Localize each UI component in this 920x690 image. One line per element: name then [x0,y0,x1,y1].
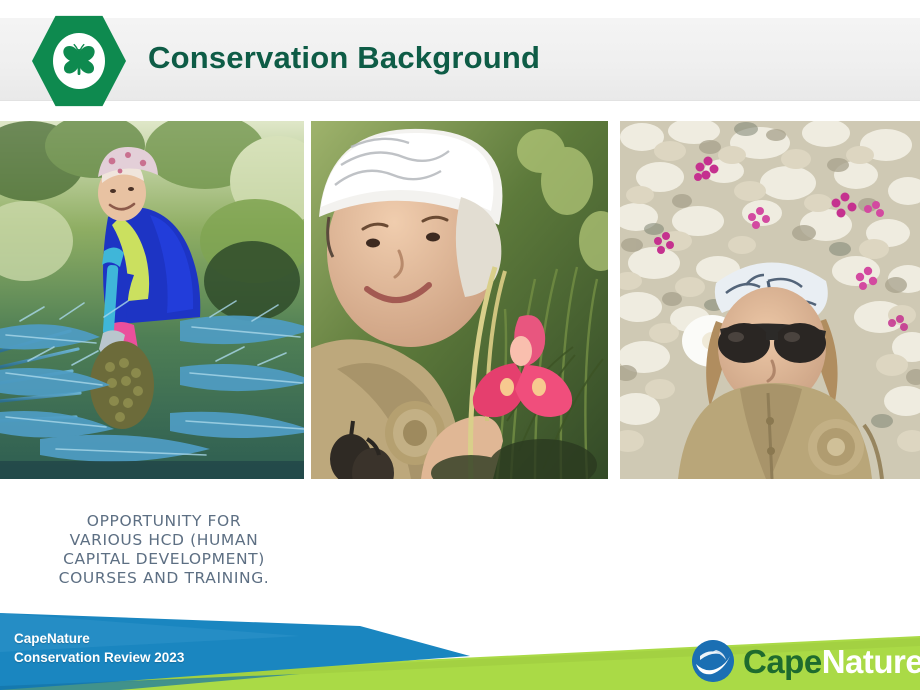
wordmark-cape: Cape [743,643,822,680]
footer-caption: CapeNature Conservation Review 2023 [14,629,184,667]
footer-org: CapeNature [14,629,184,648]
caption-line-4: COURSES AND TRAINING. [14,569,314,588]
photo-woman-planting-cycad [0,121,304,479]
caption-line-1: OPPORTUNITY FOR [14,512,314,531]
capenature-wave-bird-icon [692,640,734,682]
butterfly-hexagon-icon [32,14,126,108]
header-divider [0,100,920,101]
caption-line-2: VARIOUS HCD (HUMAN [14,531,314,550]
caption-line-3: CAPITAL DEVELOPMENT) [14,550,314,569]
wave-bird-glyph [692,640,734,682]
photo-ranger-among-quartz-pebbles [620,121,920,479]
wordmark-nature: Nature [822,643,920,680]
photo-ranger-with-pink-disa-flower [311,121,608,479]
photo-3-artwork [620,121,920,479]
footer-review: Conservation Review 2023 [14,648,184,667]
photo-2-artwork [311,121,608,479]
capenature-logo: CapeNature [692,638,920,684]
photo-1-artwork [0,121,304,479]
capenature-wordmark: CapeNature [743,645,920,678]
butterfly-glyph [57,39,101,83]
photo-caption: OPPORTUNITY FOR VARIOUS HCD (HUMAN CAPIT… [14,512,314,588]
photo-strip [0,121,920,479]
slide-canvas: Conservation Background [0,0,920,690]
page-title: Conservation Background [148,40,540,76]
